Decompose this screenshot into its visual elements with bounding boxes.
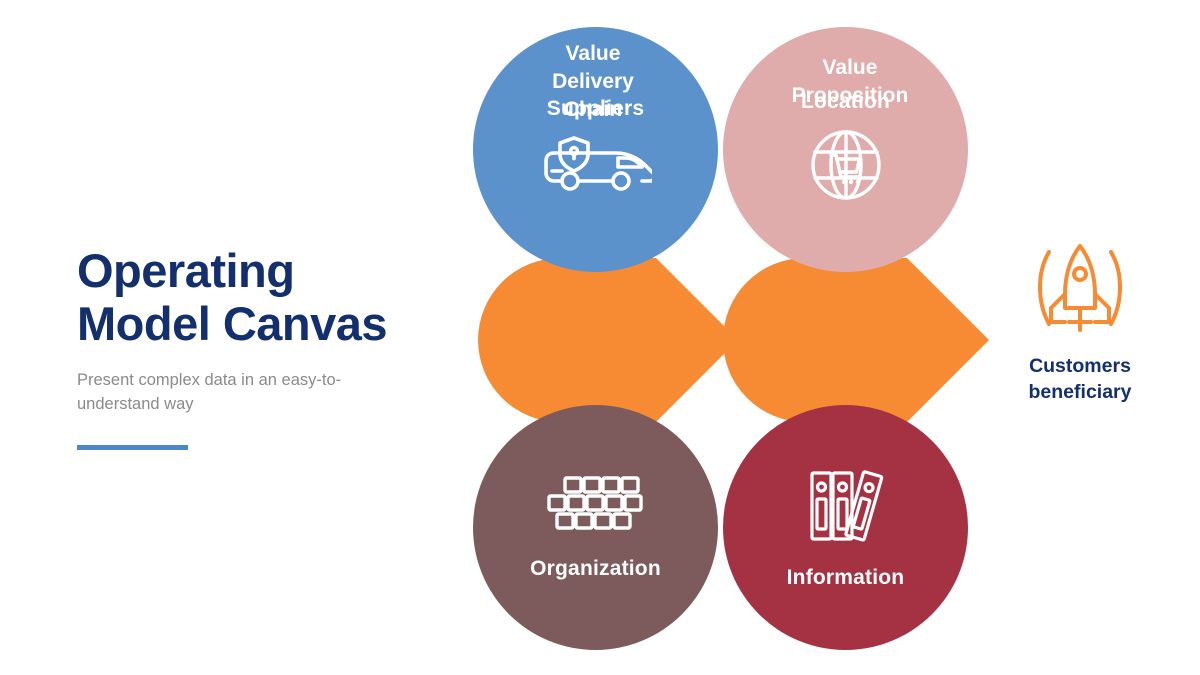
- outcome-customers-beneficiary[interactable]: Customers beneficiary: [995, 238, 1165, 406]
- node-suppliers[interactable]: Suppliers: [473, 27, 718, 272]
- outcome-customers-beneficiary-label: Customers beneficiary: [1029, 353, 1132, 406]
- node-location[interactable]: Location: [723, 27, 968, 272]
- delivery-van-shield-icon: [540, 133, 652, 202]
- arrow-value-proposition[interactable]: [723, 258, 989, 422]
- node-location-label: Location: [801, 90, 890, 114]
- globe-shopping-cart-icon: [807, 126, 885, 209]
- node-suppliers-label: Suppliers: [547, 97, 645, 121]
- node-information-label: Information: [787, 566, 905, 590]
- node-organization[interactable]: Organization: [473, 405, 718, 650]
- binders-icon: [804, 465, 888, 550]
- arrow-value-delivery-chain[interactable]: [478, 258, 738, 422]
- brick-wall-icon: [543, 474, 649, 541]
- rocket-launch-icon: [1025, 238, 1135, 343]
- node-information[interactable]: Information: [723, 405, 968, 650]
- operating-model-canvas-diagram: Value Delivery Chain Value Proposition S…: [0, 0, 1200, 675]
- node-organization-label: Organization: [530, 557, 661, 581]
